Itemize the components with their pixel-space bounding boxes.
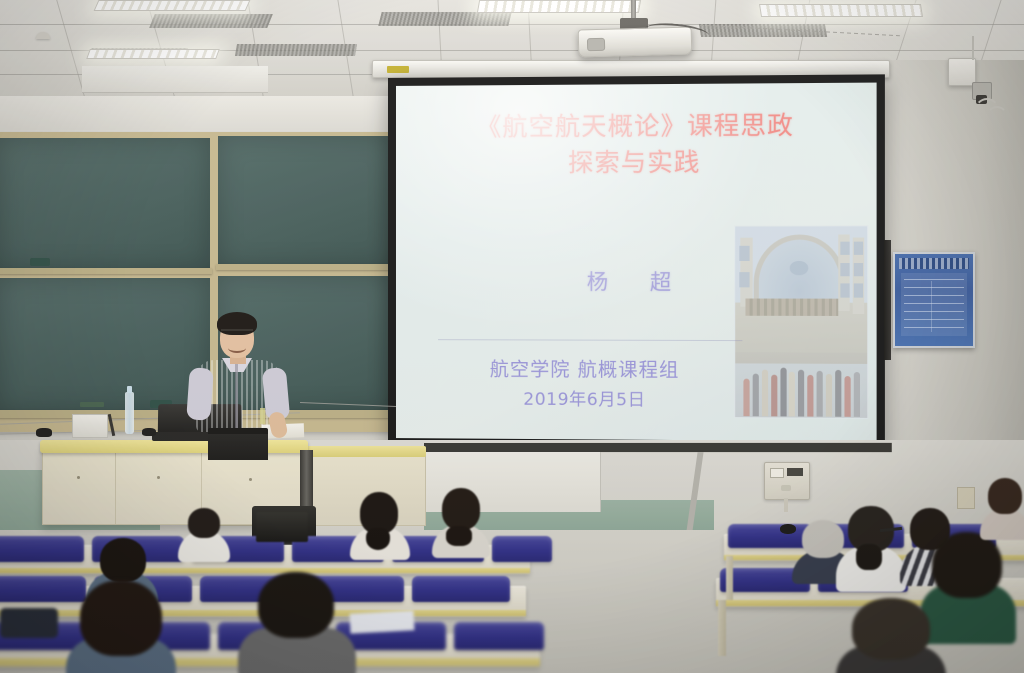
desk-mouse	[780, 524, 796, 534]
audience-member	[66, 580, 176, 673]
seat	[454, 622, 544, 650]
wall-outlet	[957, 487, 975, 509]
slide-title-line1: 《航空航天概论》课程思政	[476, 111, 794, 142]
ceiling-vent	[235, 44, 357, 56]
conduit-line	[972, 36, 974, 60]
ceiling-light-fixture	[759, 4, 923, 17]
audience-member	[238, 572, 356, 673]
wall-header-band	[0, 96, 410, 130]
audience-member	[348, 492, 412, 556]
lecturer	[186, 312, 290, 452]
podium-equipment-box	[72, 414, 108, 438]
ceiling-light-fixture	[86, 49, 220, 59]
ceiling-light-fixture	[94, 0, 251, 11]
audience-member	[836, 598, 946, 673]
screen-bottom-bar	[424, 443, 892, 452]
glasses-icon	[221, 329, 253, 338]
audience-member	[836, 506, 906, 588]
lecturer-sleeve-left	[186, 367, 214, 421]
slide-title-line2: 探索与实践	[396, 144, 877, 182]
lecture-hall-photo: 《航空航天概论》课程思政 探索与实践 杨 超 航空学院 航概课程组 2019年6…	[0, 0, 1024, 673]
seat	[412, 576, 510, 602]
ceiling-soffit	[82, 66, 268, 93]
slide-author: 杨 超	[396, 266, 877, 297]
presentation-slide: 《航空航天概论》课程思政 探索与实践 杨 超 航空学院 航概课程组 2019年6…	[396, 83, 877, 442]
bottle-icon	[125, 392, 134, 434]
blackboard-panel	[0, 278, 210, 412]
projection-screen: 《航空航天概论》课程思政 探索与实践 杨 超 航空学院 航概课程组 2019年6…	[388, 74, 885, 449]
slide-date: 2019年6月5日	[418, 384, 753, 411]
group-photo-people	[735, 352, 867, 418]
audience-member	[980, 478, 1024, 536]
slide-organization: 航空学院 航概课程组	[418, 354, 753, 383]
podium-device	[142, 428, 156, 436]
desk-paper	[350, 610, 415, 633]
blackboard-panel	[0, 138, 210, 270]
wall-notice-sign	[893, 252, 975, 348]
sign-body	[901, 273, 967, 336]
projector-lens	[587, 38, 605, 51]
sign-support-post	[884, 240, 891, 360]
ceiling-vent	[378, 12, 511, 26]
chalk-rail	[0, 268, 212, 274]
smoke-detector-icon	[36, 32, 50, 39]
chalk-rail	[216, 264, 398, 270]
screen-surface: 《航空航天概论》课程思政 探索与实践 杨 超 航空学院 航概课程组 2019年6…	[396, 83, 877, 442]
audience-member	[430, 488, 492, 556]
seat	[0, 536, 84, 562]
lecturer-lanyard	[260, 408, 265, 424]
housing-label	[387, 66, 409, 73]
podium-mouse	[36, 428, 52, 437]
slide-group-photo	[734, 225, 868, 419]
desk-bag	[0, 608, 58, 638]
lecturer-trousers	[208, 434, 268, 460]
ceiling-vent	[149, 14, 273, 28]
chalk-piece	[80, 402, 104, 407]
slide-divider	[438, 339, 742, 341]
ceiling-light-fixture	[477, 0, 641, 13]
audience-member	[176, 508, 232, 556]
student-laptop	[256, 512, 308, 542]
blackboard-panel	[218, 136, 394, 268]
control-panel-cord	[784, 498, 788, 512]
board-eraser	[30, 258, 50, 266]
camera-cable	[986, 106, 1008, 130]
seat	[492, 536, 552, 562]
slide-title: 《航空航天概论》课程思政 探索与实践	[396, 107, 877, 182]
wall-control-panel	[764, 462, 810, 500]
sign-header	[899, 258, 969, 269]
